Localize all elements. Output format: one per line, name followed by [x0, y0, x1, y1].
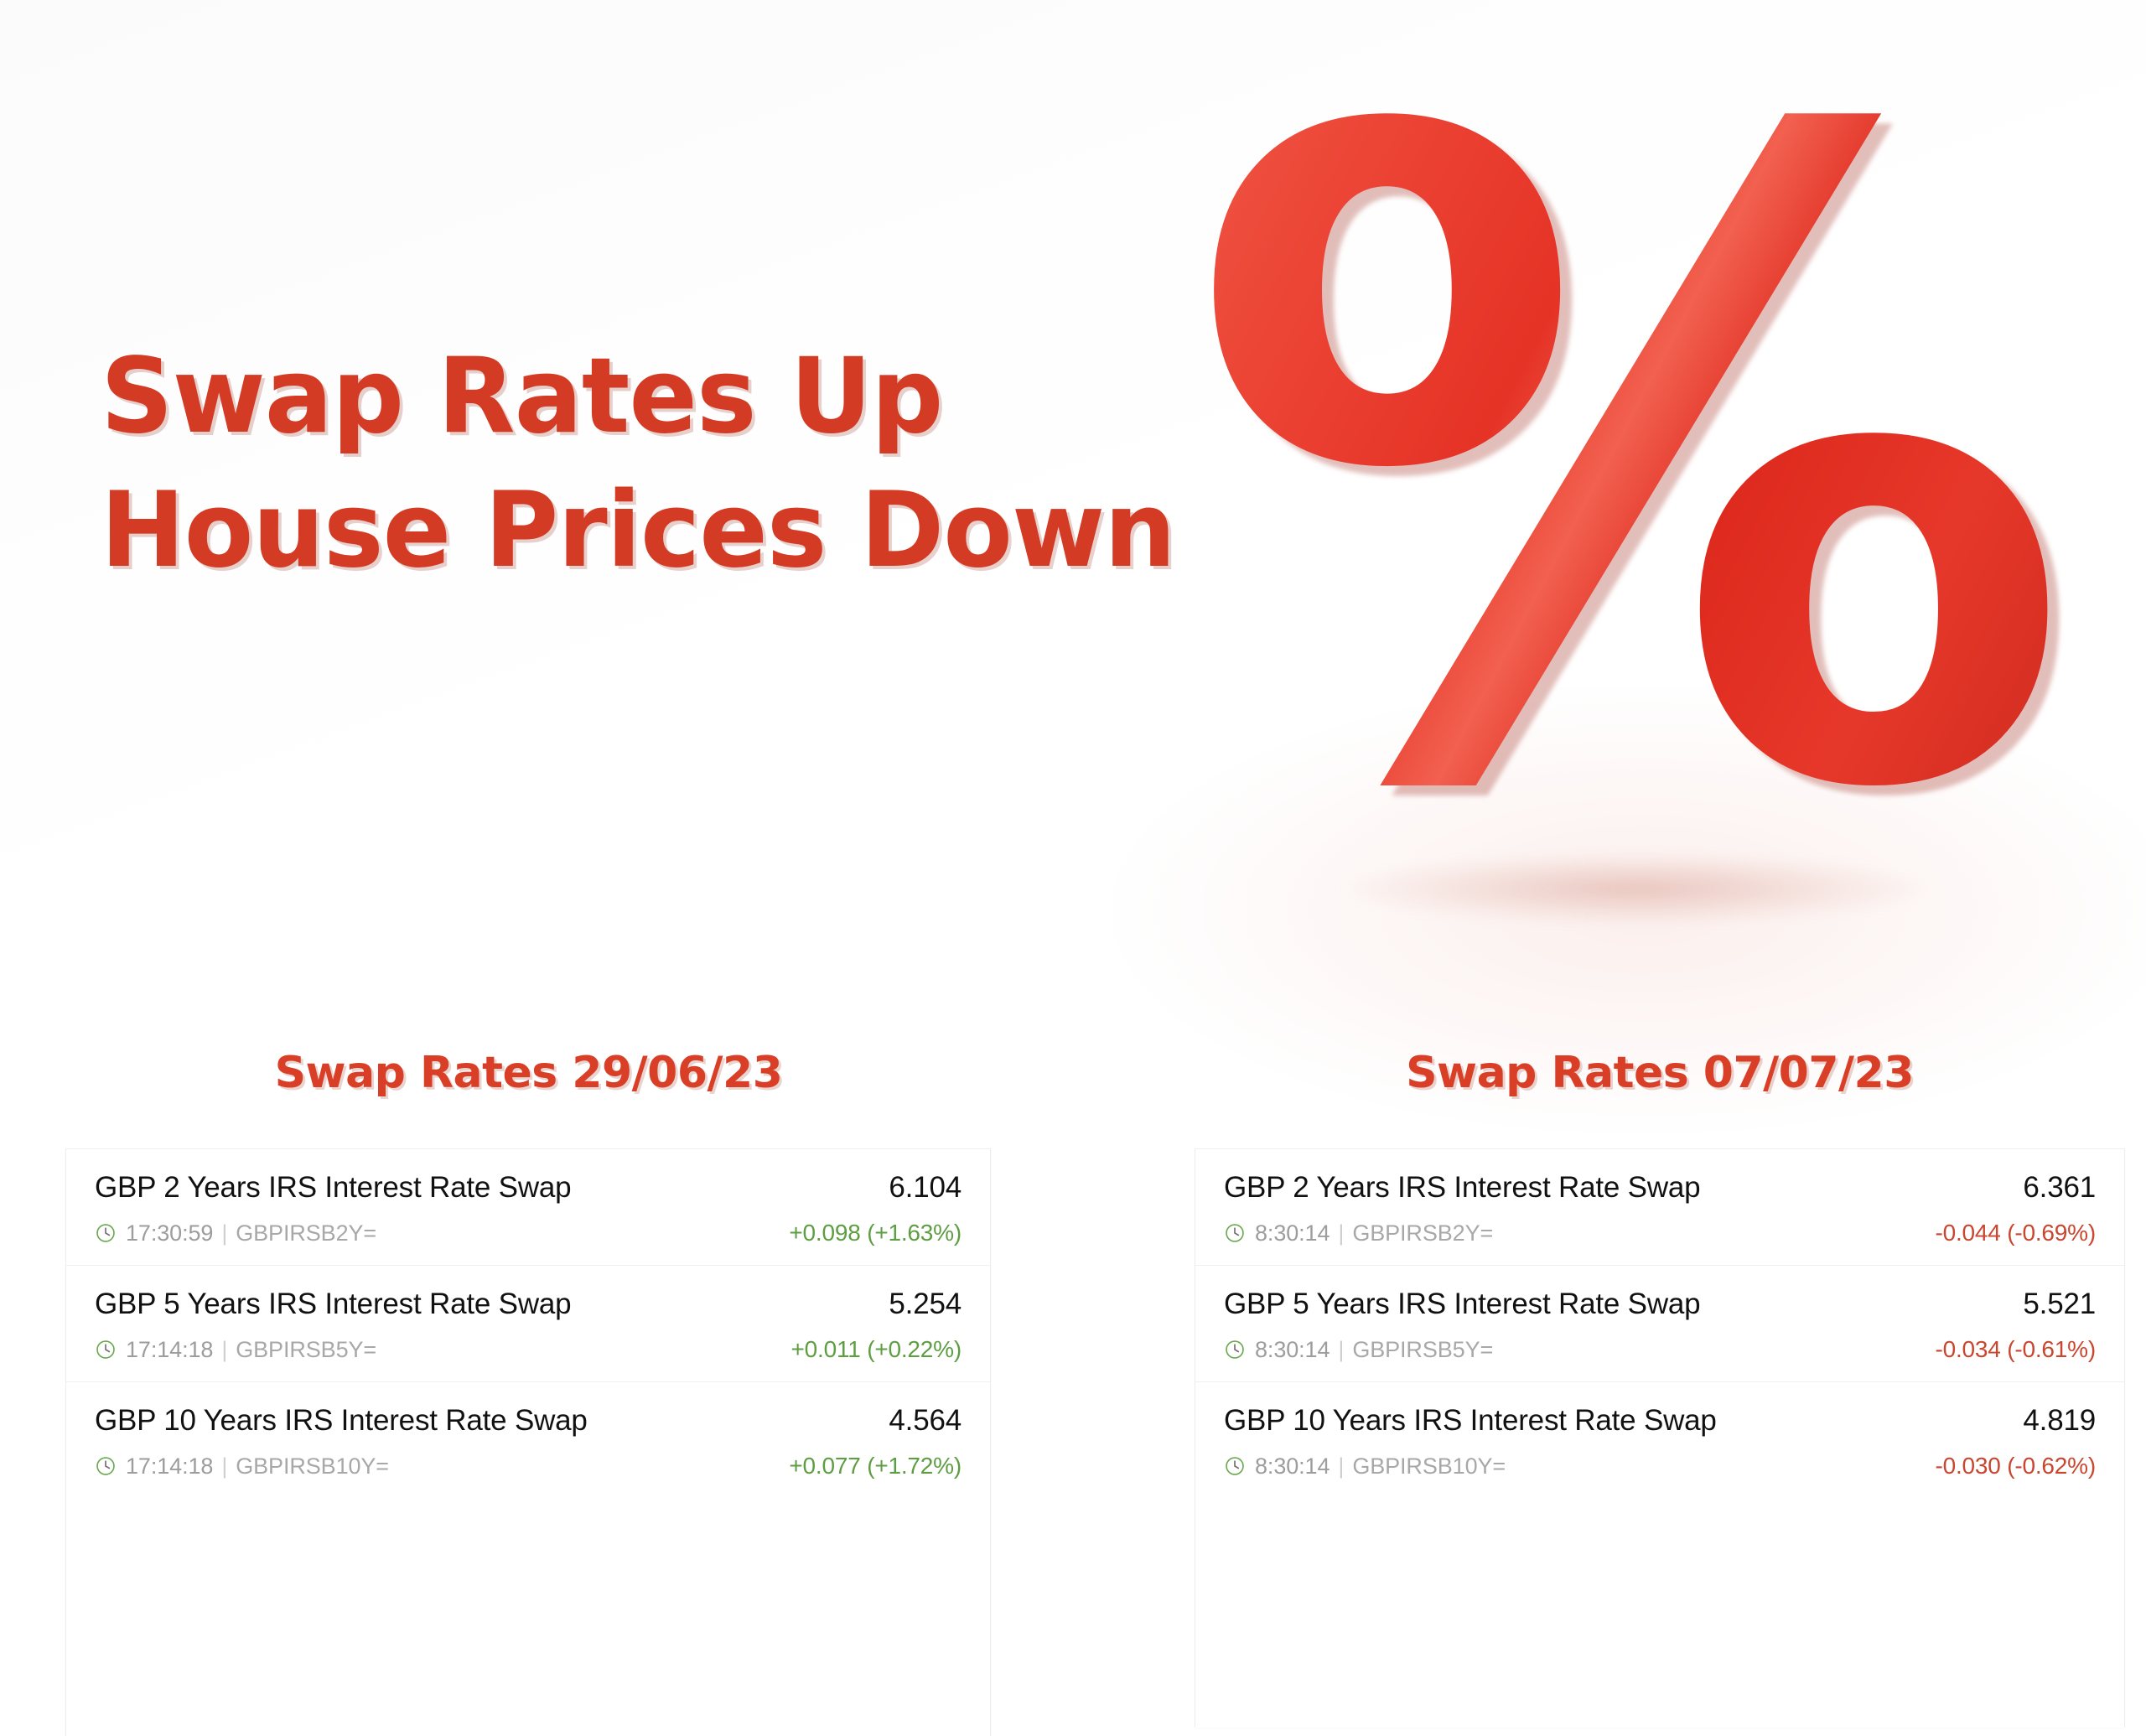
row-symbol: GBPIRSB10Y= [236, 1454, 389, 1479]
instrument-price: 5.254 [889, 1288, 962, 1321]
meta-separator: | [1338, 1454, 1344, 1479]
row-symbol: GBPIRSB5Y= [236, 1337, 376, 1363]
clock-icon [1224, 1455, 1246, 1477]
row-time: 17:14:18 [126, 1454, 213, 1479]
headline-line-1: Swap Rates Up [101, 335, 1255, 458]
row-change: +0.077 (+1.72%) [789, 1453, 962, 1479]
instrument-name: GBP 10 Years IRS Interest Rate Swap [1224, 1404, 1717, 1438]
row-time: 17:30:59 [126, 1220, 213, 1246]
clock-icon [95, 1455, 117, 1477]
percent-3d-icon: % % [1174, 46, 2087, 893]
row-meta: 17:30:59 | GBPIRSB2Y= [95, 1220, 376, 1246]
row-bottom: 8:30:14 | GBPIRSB2Y= -0.044 (-0.69%) [1224, 1220, 2096, 1246]
row-time: 8:30:14 [1255, 1337, 1330, 1363]
row-symbol: GBPIRSB2Y= [1352, 1220, 1493, 1246]
table-row[interactable]: GBP 2 Years IRS Interest Rate Swap 6.104… [66, 1149, 990, 1266]
row-top: GBP 5 Years IRS Interest Rate Swap 5.521 [1224, 1288, 2096, 1321]
row-change: +0.011 (+0.22%) [790, 1336, 962, 1363]
meta-separator: | [1338, 1337, 1344, 1363]
quote-card-right: GBP 2 Years IRS Interest Rate Swap 6.361… [1195, 1148, 2125, 1728]
row-symbol: GBPIRSB10Y= [1352, 1454, 1506, 1479]
instrument-name: GBP 5 Years IRS Interest Rate Swap [1224, 1288, 1700, 1321]
table-row[interactable]: GBP 5 Years IRS Interest Rate Swap 5.254… [66, 1266, 990, 1382]
row-top: GBP 10 Years IRS Interest Rate Swap 4.81… [1224, 1404, 2096, 1438]
panel-title-right: Swap Rates 07/07/23 [1195, 1048, 2125, 1098]
row-bottom: 17:14:18 | GBPIRSB10Y= +0.077 (+1.72%) [95, 1453, 962, 1479]
row-symbol: GBPIRSB2Y= [236, 1220, 376, 1246]
instrument-price: 6.104 [889, 1171, 962, 1205]
quote-card-left: GBP 2 Years IRS Interest Rate Swap 6.104… [65, 1148, 991, 1736]
row-top: GBP 10 Years IRS Interest Rate Swap 4.56… [95, 1404, 962, 1438]
instrument-price: 6.361 [2023, 1171, 2096, 1205]
swap-rates-panel-left: Swap Rates 29/06/23 GBP 2 Years IRS Inte… [65, 1048, 992, 1736]
row-change: -0.044 (-0.69%) [1935, 1220, 2096, 1246]
meta-separator: | [1338, 1220, 1344, 1246]
row-time: 8:30:14 [1255, 1220, 1330, 1246]
headline-block: Swap Rates Up House Prices Down [101, 335, 1291, 593]
row-bottom: 8:30:14 | GBPIRSB10Y= -0.030 (-0.62%) [1224, 1453, 2096, 1479]
row-top: GBP 5 Years IRS Interest Rate Swap 5.254 [95, 1288, 962, 1321]
table-row[interactable]: GBP 2 Years IRS Interest Rate Swap 6.361… [1195, 1149, 2124, 1266]
clock-icon [95, 1222, 117, 1244]
row-time: 8:30:14 [1255, 1454, 1330, 1479]
meta-separator: | [221, 1454, 227, 1479]
row-meta: 8:30:14 | GBPIRSB5Y= [1224, 1337, 1493, 1363]
hero-banner: Swap Rates Up House Prices Down % % [0, 0, 2146, 972]
row-bottom: 17:30:59 | GBPIRSB2Y= +0.098 (+1.63%) [95, 1220, 962, 1246]
table-row[interactable]: GBP 10 Years IRS Interest Rate Swap 4.56… [66, 1382, 990, 1498]
row-meta: 8:30:14 | GBPIRSB2Y= [1224, 1220, 1493, 1246]
table-row[interactable]: GBP 10 Years IRS Interest Rate Swap 4.81… [1195, 1382, 2124, 1498]
row-meta: 8:30:14 | GBPIRSB10Y= [1224, 1454, 1506, 1479]
row-symbol: GBPIRSB5Y= [1352, 1337, 1493, 1363]
instrument-price: 4.819 [2023, 1404, 2096, 1438]
clock-icon [95, 1339, 117, 1360]
table-row[interactable]: GBP 5 Years IRS Interest Rate Swap 5.521… [1195, 1266, 2124, 1382]
instrument-name: GBP 5 Years IRS Interest Rate Swap [95, 1288, 571, 1321]
row-meta: 17:14:18 | GBPIRSB5Y= [95, 1337, 376, 1363]
meta-separator: | [221, 1220, 227, 1246]
row-bottom: 8:30:14 | GBPIRSB5Y= -0.034 (-0.61%) [1224, 1336, 2096, 1363]
clock-icon [1224, 1222, 1246, 1244]
row-change: -0.034 (-0.61%) [1935, 1336, 2096, 1363]
row-meta: 17:14:18 | GBPIRSB10Y= [95, 1454, 389, 1479]
panel-title-left: Swap Rates 29/06/23 [65, 1048, 992, 1098]
row-time: 17:14:18 [126, 1337, 213, 1363]
instrument-name: GBP 2 Years IRS Interest Rate Swap [95, 1171, 571, 1205]
row-bottom: 17:14:18 | GBPIRSB5Y= +0.011 (+0.22%) [95, 1336, 962, 1363]
instrument-price: 4.564 [889, 1404, 962, 1438]
row-change: +0.098 (+1.63%) [789, 1220, 962, 1246]
headline-line-2: House Prices Down [101, 469, 1255, 592]
percent-3d-icon-face: % [1174, 46, 2087, 893]
clock-icon [1224, 1339, 1246, 1360]
swap-rates-panel-right: Swap Rates 07/07/23 GBP 2 Years IRS Inte… [1195, 1048, 2125, 1728]
row-top: GBP 2 Years IRS Interest Rate Swap 6.361 [1224, 1171, 2096, 1205]
meta-separator: | [221, 1337, 227, 1363]
instrument-name: GBP 2 Years IRS Interest Rate Swap [1224, 1171, 1700, 1205]
row-change: -0.030 (-0.62%) [1935, 1453, 2096, 1479]
row-top: GBP 2 Years IRS Interest Rate Swap 6.104 [95, 1171, 962, 1205]
instrument-price: 5.521 [2023, 1288, 2096, 1321]
instrument-name: GBP 10 Years IRS Interest Rate Swap [95, 1404, 588, 1438]
